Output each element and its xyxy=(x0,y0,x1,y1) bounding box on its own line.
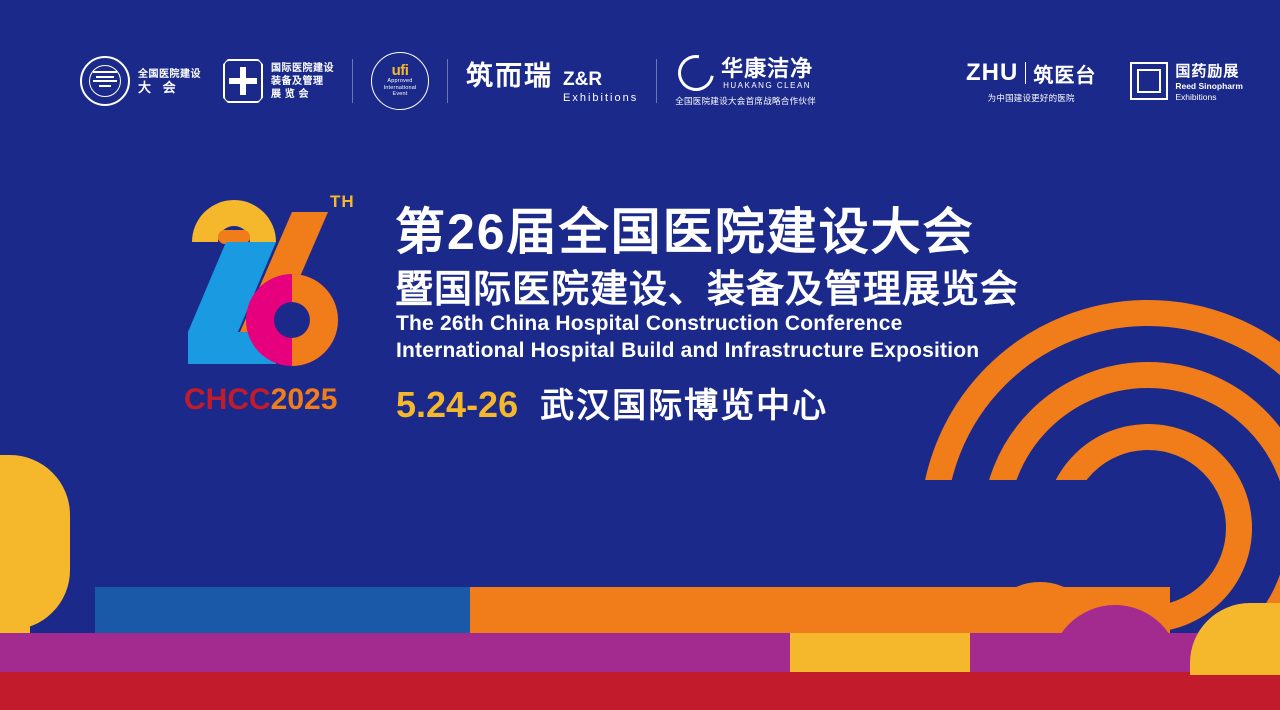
logo-zhuyitai: ZHU 筑医台 为中国建设更好的医院 xyxy=(966,59,1096,104)
huakang-footer: 全国医院建设大会首席战略合作伙伴 xyxy=(675,95,816,107)
page-title-en-line1: The 26th China Hospital Construction Con… xyxy=(396,312,902,336)
huakang-cn: 华康洁净 xyxy=(721,57,813,81)
reed-en2: Exhibitions xyxy=(1175,92,1243,103)
poster-canvas: 全国医院建设 大 会 国际医院建设 装备及管理 展 览 会 ufi Approv… xyxy=(0,0,1280,710)
zhu-cn: 筑医台 xyxy=(1033,59,1096,88)
logo-expo-label: 国际医院建设 装备及管理 展 览 会 xyxy=(271,62,334,101)
chcc-wordmark: CHCC2025 xyxy=(184,383,337,417)
ufi-mark-text: ufi xyxy=(392,62,409,79)
page-title-cn: 第26届全国医院建设大会 xyxy=(395,192,975,264)
chcc-seal-icon xyxy=(80,56,130,106)
reed-cn: 国药励展 xyxy=(1175,60,1243,81)
zr-cn: 筑而瑞 xyxy=(466,54,553,93)
zr-en: Z&R xyxy=(563,69,602,90)
reed-en1: Reed Sinopharm xyxy=(1175,81,1243,92)
huakang-en: HUAKANG CLEAN xyxy=(721,81,813,90)
red-band xyxy=(0,672,1280,710)
ufi-mark: ufi xyxy=(392,64,409,78)
zhu-divider xyxy=(1025,62,1026,84)
leaf-icon xyxy=(671,48,721,98)
medical-cross-badge-icon xyxy=(223,59,263,103)
ufi-sub-3: Event xyxy=(392,91,407,98)
expo-line3: 展 览 会 xyxy=(271,88,334,101)
logo-chcc-conference-label: 全国医院建设 大 会 xyxy=(138,68,201,94)
chcc-year: 2025 xyxy=(271,383,338,416)
expo-line1: 国际医院建设 xyxy=(271,62,334,75)
blue-band xyxy=(95,587,485,635)
event-info: 5.24-26 武汉国际博览中心 xyxy=(396,378,828,427)
event-date: 5.24-26 xyxy=(396,384,518,426)
logo-ufi: ufi Approved International Event xyxy=(371,52,429,110)
zhu-latin: ZHU xyxy=(966,59,1018,87)
page-title-en-line2: International Hospital Build and Infrast… xyxy=(396,339,979,363)
ordinal-superscript: TH xyxy=(330,192,355,212)
divider-1 xyxy=(352,59,353,103)
yellow-bottom-block xyxy=(790,633,970,675)
divider-2 xyxy=(447,59,448,103)
zhu-footer: 为中国建设更好的医院 xyxy=(988,92,1075,104)
page-subtitle-cn: 暨国际医院建设、装备及管理展览会 xyxy=(395,258,1019,313)
logo-zr-exhibitions: 筑而瑞 Z&R Exhibitions xyxy=(466,54,638,108)
yellow-left-block xyxy=(0,578,30,638)
logo-huakang: 华康洁净 HUAKANG CLEAN 全国医院建设大会首席战略合作伙伴 xyxy=(675,55,816,107)
logo-reed-sinopharm: 国药励展 Reed Sinopharm Exhibitions xyxy=(1130,60,1243,103)
partner-logo-strip: 全国医院建设 大 会 国际医院建设 装备及管理 展 览 会 ufi Approv… xyxy=(80,52,1243,110)
expo-line2: 装备及管理 xyxy=(271,75,334,88)
huakang-text: 华康洁净 HUAKANG CLEAN xyxy=(721,57,813,90)
event-venue: 武汉国际博览中心 xyxy=(540,378,828,427)
logo-expo: 国际医院建设 装备及管理 展 览 会 xyxy=(223,59,334,103)
zr-en-block: Z&R Exhibitions xyxy=(563,70,638,108)
chcc-line2: 大 会 xyxy=(138,81,201,94)
reed-square-icon xyxy=(1130,62,1168,100)
zr-en-sub: Exhibitions xyxy=(563,89,638,108)
divider-3 xyxy=(656,59,657,103)
chcc-brand: CHCC xyxy=(184,383,271,416)
logo-chcc-conference: 全国医院建设 大 会 xyxy=(80,56,201,106)
